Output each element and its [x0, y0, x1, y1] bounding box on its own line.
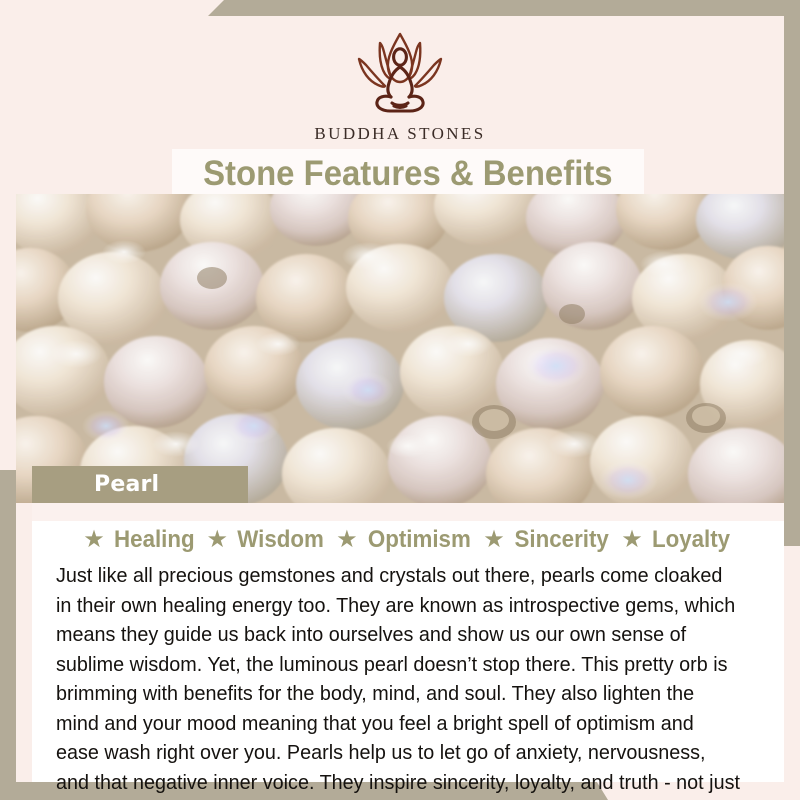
- decorative-top-band: [0, 0, 800, 16]
- stone-name-label: Pearl: [94, 472, 159, 497]
- star-icon: ★: [621, 528, 643, 552]
- star-icon: ★: [206, 528, 228, 552]
- star-icon: ★: [336, 528, 358, 552]
- benefits-list: ★ Healing ★ Wisdom ★ Optimism ★ Sincerit…: [32, 526, 784, 554]
- header: BUDDHA STONES Stone Features & Benefits: [16, 16, 784, 194]
- benefit-item: ★ Optimism: [336, 526, 474, 554]
- benefit-label: Sincerity: [514, 526, 608, 554]
- page-inner: BUDDHA STONES Stone Features & Benefits: [16, 16, 784, 782]
- title-banner: Stone Features & Benefits: [172, 149, 644, 199]
- star-icon: ★: [83, 528, 105, 552]
- pearls-photo: [16, 194, 784, 503]
- brand-name: BUDDHA STONES: [16, 124, 784, 144]
- content-card: ★ Healing ★ Wisdom ★ Optimism ★ Sincerit…: [32, 503, 784, 782]
- stone-name-bar: Pearl: [32, 466, 248, 503]
- decorative-left-band: [0, 470, 16, 782]
- card-top-tint: [32, 503, 784, 521]
- brand-logo: BUDDHA STONES: [16, 26, 784, 144]
- benefit-item: ★ Healing: [83, 526, 197, 554]
- benefit-item: ★ Loyalty: [621, 526, 733, 554]
- benefit-item: ★ Wisdom: [206, 526, 327, 554]
- decorative-right-band: [784, 16, 800, 546]
- star-icon: ★: [483, 528, 505, 552]
- page-title: Stone Features & Benefits: [203, 154, 613, 194]
- benefit-label: Optimism: [367, 526, 470, 554]
- benefit-item: ★ Sincerity: [483, 526, 612, 554]
- description-paragraph: Just like all precious gemstones and cry…: [56, 561, 741, 800]
- infographic-poster: BUDDHA STONES Stone Features & Benefits: [0, 0, 800, 800]
- benefit-label: Healing: [114, 526, 195, 554]
- benefit-label: Wisdom: [237, 526, 324, 554]
- benefit-label: Loyalty: [652, 526, 730, 554]
- lotus-meditation-icon: [16, 26, 784, 122]
